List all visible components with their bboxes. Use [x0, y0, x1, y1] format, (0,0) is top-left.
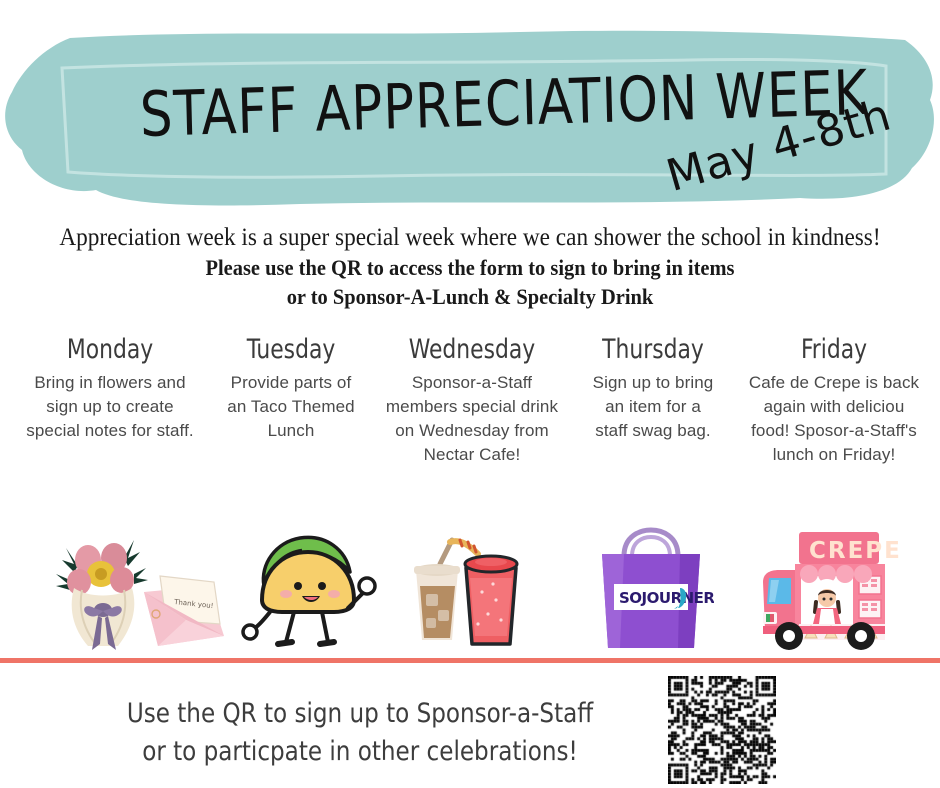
day-column-monday: Monday Bring in flowers and sign up to c… [22, 334, 198, 443]
footer-line-2: or to particpate in other celebrations! [94, 733, 626, 771]
bag-brand-text: SOJOURNER [619, 589, 714, 607]
day-title-wednesday: Wednesday [393, 334, 551, 366]
day-body-friday: Cafe de Crepe is back again with delicio… [746, 371, 922, 467]
weekday-columns: Monday Bring in flowers and sign up to c… [22, 334, 922, 467]
sojourner-shopping-bag-icon: SOJOURNER [588, 522, 714, 654]
day-title-thursday: Thursday [574, 334, 732, 366]
header-banner: STAFF APPRECIATION WEEK May 4-8th [0, 26, 940, 211]
day-title-monday: Monday [31, 334, 189, 366]
footer-line-1: Use the QR to sign up to Sponsor-a-Staff [94, 695, 626, 733]
cartoon-taco-icon [238, 524, 378, 652]
truck-sign-text: CREPE [809, 538, 902, 564]
intro-line-1: Appreciation week is a super special wee… [33, 222, 907, 253]
intro-line-2: Please use the QR to access the form to … [33, 253, 907, 282]
day-body-wednesday: Sponsor-a-Staff members special drink on… [384, 371, 560, 467]
day-title-tuesday: Tuesday [212, 334, 370, 366]
day-title-friday: Friday [755, 334, 913, 366]
intro-text-block: Appreciation week is a super special wee… [0, 222, 940, 311]
day-body-thursday: Sign up to bring an item for a staff swa… [565, 371, 741, 443]
day-column-thursday: Thursday Sign up to bring an item for a … [565, 334, 741, 443]
flower-bouquet-icon: Thank you! [48, 524, 238, 656]
day-column-wednesday: Wednesday Sponsor-a-Staff members specia… [384, 334, 560, 467]
day-column-tuesday: Tuesday Provide parts of an Taco Themed … [203, 334, 379, 443]
illustration-row: Thank you! [0, 518, 940, 658]
day-body-tuesday: Provide parts of an Taco Themed Lunch [203, 371, 379, 443]
intro-line-3: or to Sponsor-A-Lunch & Specialty Drink [33, 282, 907, 311]
day-body-monday: Bring in flowers and sign up to create s… [22, 371, 198, 443]
crepe-food-truck-icon: CREPE [755, 520, 905, 652]
qr-code[interactable] [668, 676, 776, 784]
day-column-friday: Friday Cafe de Crepe is back again with … [746, 334, 922, 467]
iced-coffee-and-smoothie-icon [400, 524, 530, 654]
section-divider [0, 658, 940, 663]
footer-call-to-action: Use the QR to sign up to Sponsor-a-Staff… [94, 695, 626, 771]
